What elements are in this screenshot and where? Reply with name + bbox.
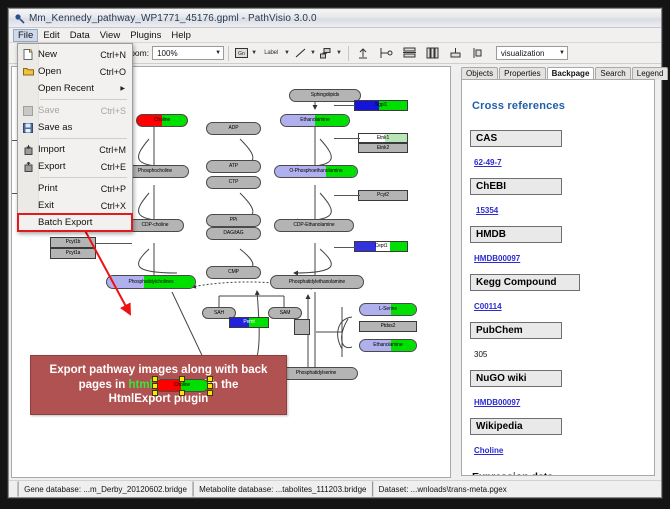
selection-handle-s[interactable] <box>179 390 185 396</box>
file-menu-import-accel: Ctrl+M <box>99 145 132 155</box>
toolbar-separator-2 <box>348 46 349 61</box>
node-dag-tag[interactable]: DAG/tAG <box>206 227 261 240</box>
gene-ptdss2[interactable]: Ptdss2 <box>359 321 417 332</box>
xref-header-nugo: NuGO wiki <box>470 370 562 387</box>
file-menu-export-label: Export <box>38 161 101 172</box>
status-bar: | Gene database: ...m_Derby_20120602.bri… <box>9 480 661 497</box>
node-l-serine[interactable]: L-Serine <box>359 303 417 316</box>
distribute-icon[interactable] <box>402 46 417 61</box>
xref-header-wikipedia: Wikipedia <box>470 418 562 435</box>
xref-header-hmdb: HMDB <box>470 226 562 243</box>
node-o-phosphoethanolamine[interactable]: O-Phosphoethanolamine <box>274 165 358 178</box>
window-title: Mm_Kennedy_pathway_WP1771_45176.gpml - P… <box>29 13 317 24</box>
node-phosphatidylethanolamine[interactable]: Phosphatidylethanolamine <box>270 275 364 289</box>
node-choline-top[interactable]: Choline <box>136 114 188 127</box>
menu-edit[interactable]: Edit <box>38 29 64 42</box>
visualization-combobox[interactable]: visualization ▼ <box>496 46 568 60</box>
gene-etnk2[interactable]: Etnk2 <box>358 143 408 153</box>
annotation-line3: HtmlExport plugin <box>109 393 209 405</box>
xref-value-nugo[interactable]: HMDB00097 <box>474 398 520 407</box>
xref-header-kegg: Kegg Compound <box>470 274 580 291</box>
status-dataset: Dataset: ...wnloads\trans-meta.pgex <box>379 485 507 494</box>
file-menu-print[interactable]: Print Ctrl+P <box>18 180 132 197</box>
menu-data[interactable]: Data <box>65 29 95 42</box>
file-menu-print-label: Print <box>38 183 101 194</box>
chevron-right-icon: ▶ <box>120 85 132 92</box>
sidebar-tabs[interactable]: Objects Properties Backpage Search Legen… <box>461 66 659 80</box>
zoom-value: 100% <box>157 49 177 58</box>
datanode-tool-button[interactable]: Gn <box>234 46 249 61</box>
title-bar: Mm_Kennedy_pathway_WP1771_45176.gpml - P… <box>9 9 661 28</box>
xref-value-chebi[interactable]: 15354 <box>476 206 498 215</box>
xref-value-pubchem: 305 <box>474 350 487 359</box>
status-gene-database: Gene database: ...m_Derby_20120602.bridg… <box>24 485 187 494</box>
gene-etnk1[interactable]: Etnk1 <box>358 133 408 143</box>
annotation-line2-a: pages in <box>79 379 129 391</box>
xref-value-kegg[interactable]: C00114 <box>474 302 502 311</box>
export-icon <box>18 162 38 172</box>
label-dropdown-icon[interactable]: ▼ <box>284 50 290 56</box>
line-tool-button[interactable] <box>293 46 308 61</box>
file-menu-export-accel: Ctrl+E <box>101 162 132 172</box>
save-icon <box>18 106 38 116</box>
cross-references-title: Cross references <box>472 100 648 112</box>
file-menu-new[interactable]: New Ctrl+N <box>18 46 132 63</box>
xref-header-cas: CAS <box>470 130 562 147</box>
node-cdp-choline[interactable]: CDP-choline <box>126 219 184 232</box>
selection-handle-w[interactable] <box>152 383 158 389</box>
file-menu-open-recent-label: Open Recent <box>38 83 120 94</box>
gene-pcyt1b[interactable]: Pcyt1b <box>50 237 96 248</box>
menu-bar[interactable]: File Edit Data View Plugins Help <box>9 28 661 43</box>
file-menu-batch-export[interactable]: Batch Export <box>18 214 132 231</box>
file-menu-divider-2 <box>40 138 127 139</box>
node-phosphatidylcholines[interactable]: Phosphatidylcholines <box>106 275 196 289</box>
file-menu-open-label: Open <box>38 66 100 77</box>
edge-stub-sgpl1 <box>334 105 356 106</box>
gene-pemt[interactable]: Pemt <box>229 317 269 328</box>
selection-handle-nw[interactable] <box>152 376 158 382</box>
file-menu-open[interactable]: Open Ctrl+O <box>18 63 132 80</box>
file-menu-save: Save Ctrl+S <box>18 102 132 119</box>
import-icon <box>18 145 38 155</box>
menu-view[interactable]: View <box>95 29 125 42</box>
datanode-dropdown-icon[interactable]: ▼ <box>251 50 257 56</box>
gene-pcyt2[interactable]: Pcyt2 <box>358 190 408 201</box>
gene-pcyt1a[interactable]: Pcyt1a <box>50 248 96 259</box>
save-as-icon <box>18 123 38 133</box>
selection-handle-e[interactable] <box>207 383 213 389</box>
node-ethanolamine-low[interactable]: Ethanolamine <box>359 339 417 352</box>
file-menu-print-accel: Ctrl+P <box>101 184 132 194</box>
sidebar-panel: Objects Properties Backpage Search Legen… <box>455 66 659 478</box>
status-metabolite-database: Metabolite database: ...tabolites_111203… <box>199 485 366 494</box>
backpage-content: Cross references CAS 62-49-7 ChEBI 15354… <box>470 86 648 475</box>
edge-stub-cept1 <box>334 247 356 248</box>
file-menu-open-accel: Ctrl+O <box>100 67 132 77</box>
file-menu-batch-export-label: Batch Export <box>38 217 132 228</box>
gene-ptdss1-box[interactable] <box>294 319 310 335</box>
file-menu-save-as-label: Save as <box>38 122 126 133</box>
node-cdp-ethanolamine[interactable]: CDP-Ethanolamine <box>274 219 354 232</box>
svg-text:Gn: Gn <box>238 51 245 57</box>
xref-value-wikipedia[interactable]: Choline <box>474 446 503 455</box>
file-menu-save-label: Save <box>38 105 101 116</box>
file-menu-save-accel: Ctrl+S <box>101 106 132 116</box>
node-sphingolipids[interactable]: Sphingolipids <box>289 89 361 102</box>
shape-tool-button[interactable] <box>319 46 334 61</box>
selection-handle-ne[interactable] <box>207 376 213 382</box>
file-menu-export[interactable]: Export Ctrl+E <box>18 158 132 175</box>
edge-stub-pcyt2 <box>334 195 360 196</box>
file-menu-divider-3 <box>40 177 127 178</box>
expression-data-title: Expression data <box>472 471 648 476</box>
xref-header-pubchem: PubChem <box>470 322 562 339</box>
file-menu-open-recent[interactable]: Open Recent ▶ <box>18 80 132 97</box>
screenshot-root: Mm_Kennedy_pathway_WP1771_45176.gpml - P… <box>0 0 670 509</box>
shape-dropdown-icon[interactable]: ▼ <box>336 50 342 56</box>
label-tool-button[interactable]: Label <box>260 46 282 61</box>
chevron-down-icon: ▼ <box>215 50 221 56</box>
file-menu-exit-accel: Ctrl+X <box>101 201 132 211</box>
pathvisio-icon <box>14 13 25 24</box>
menu-file[interactable]: File <box>13 29 38 42</box>
file-menu-popup[interactable]: New Ctrl+N Open Ctrl+O Open Recent ▶ <box>17 43 133 232</box>
label-tool-text: Label <box>264 50 278 56</box>
file-menu-new-label: New <box>38 49 100 60</box>
file-menu-import-label: Import <box>38 144 99 155</box>
gene-cept1[interactable]: Cept1 <box>354 241 408 252</box>
toolbar-separator <box>228 46 229 61</box>
annotation-line1: Export pathway images along with back <box>50 364 268 376</box>
line-dropdown-icon[interactable]: ▼ <box>310 50 316 56</box>
file-menu-exit[interactable]: Exit Ctrl+X <box>18 197 132 214</box>
node-sam[interactable]: SAM <box>268 307 302 319</box>
stack-icon[interactable] <box>448 46 463 61</box>
edge-stub-etnk <box>334 138 360 139</box>
node-cmp[interactable]: CMP <box>206 266 261 279</box>
xref-header-chebi: ChEBI <box>470 178 562 195</box>
node-adp[interactable]: ADP <box>206 122 261 135</box>
node-ppi[interactable]: PPi <box>206 214 261 227</box>
node-ethanolamine-top[interactable]: Ethanolamine <box>280 114 350 127</box>
group-icon[interactable] <box>471 46 486 61</box>
new-file-icon <box>18 49 38 60</box>
file-menu-save-as[interactable]: Save as <box>18 119 132 136</box>
node-ctp[interactable]: CTP <box>206 176 261 189</box>
menu-help[interactable]: Help <box>166 29 196 42</box>
file-menu-divider-1 <box>40 99 127 100</box>
xref-value-cas[interactable]: 62-49-7 <box>474 158 502 167</box>
xref-value-hmdb[interactable]: HMDB00097 <box>474 254 520 263</box>
align-left-icon[interactable] <box>379 46 394 61</box>
columns-icon[interactable] <box>425 46 440 61</box>
file-menu-import[interactable]: Import Ctrl+M <box>18 141 132 158</box>
menu-plugins[interactable]: Plugins <box>125 29 166 42</box>
align-top-icon[interactable] <box>356 46 371 61</box>
selection-handle-sw[interactable] <box>152 390 158 396</box>
open-folder-icon <box>18 67 38 76</box>
gene-sgpl1[interactable]: Sgpl1 <box>354 100 408 111</box>
application-window: Mm_Kennedy_pathway_WP1771_45176.gpml - P… <box>8 8 662 498</box>
zoom-combobox[interactable]: 100% ▼ <box>152 46 224 60</box>
selection-handle-n[interactable] <box>179 376 185 382</box>
edge-stub-pcyt1 <box>96 243 132 244</box>
file-menu-exit-label: Exit <box>38 200 101 211</box>
chevron-down-icon-2: ▼ <box>559 50 565 56</box>
backpage-pane: Cross references CAS 62-49-7 ChEBI 15354… <box>461 79 655 476</box>
visualization-value: visualization <box>501 49 545 58</box>
file-menu-new-accel: Ctrl+N <box>100 50 132 60</box>
node-atp[interactable]: ATP <box>206 160 261 173</box>
selection-handle-se[interactable] <box>207 390 213 396</box>
